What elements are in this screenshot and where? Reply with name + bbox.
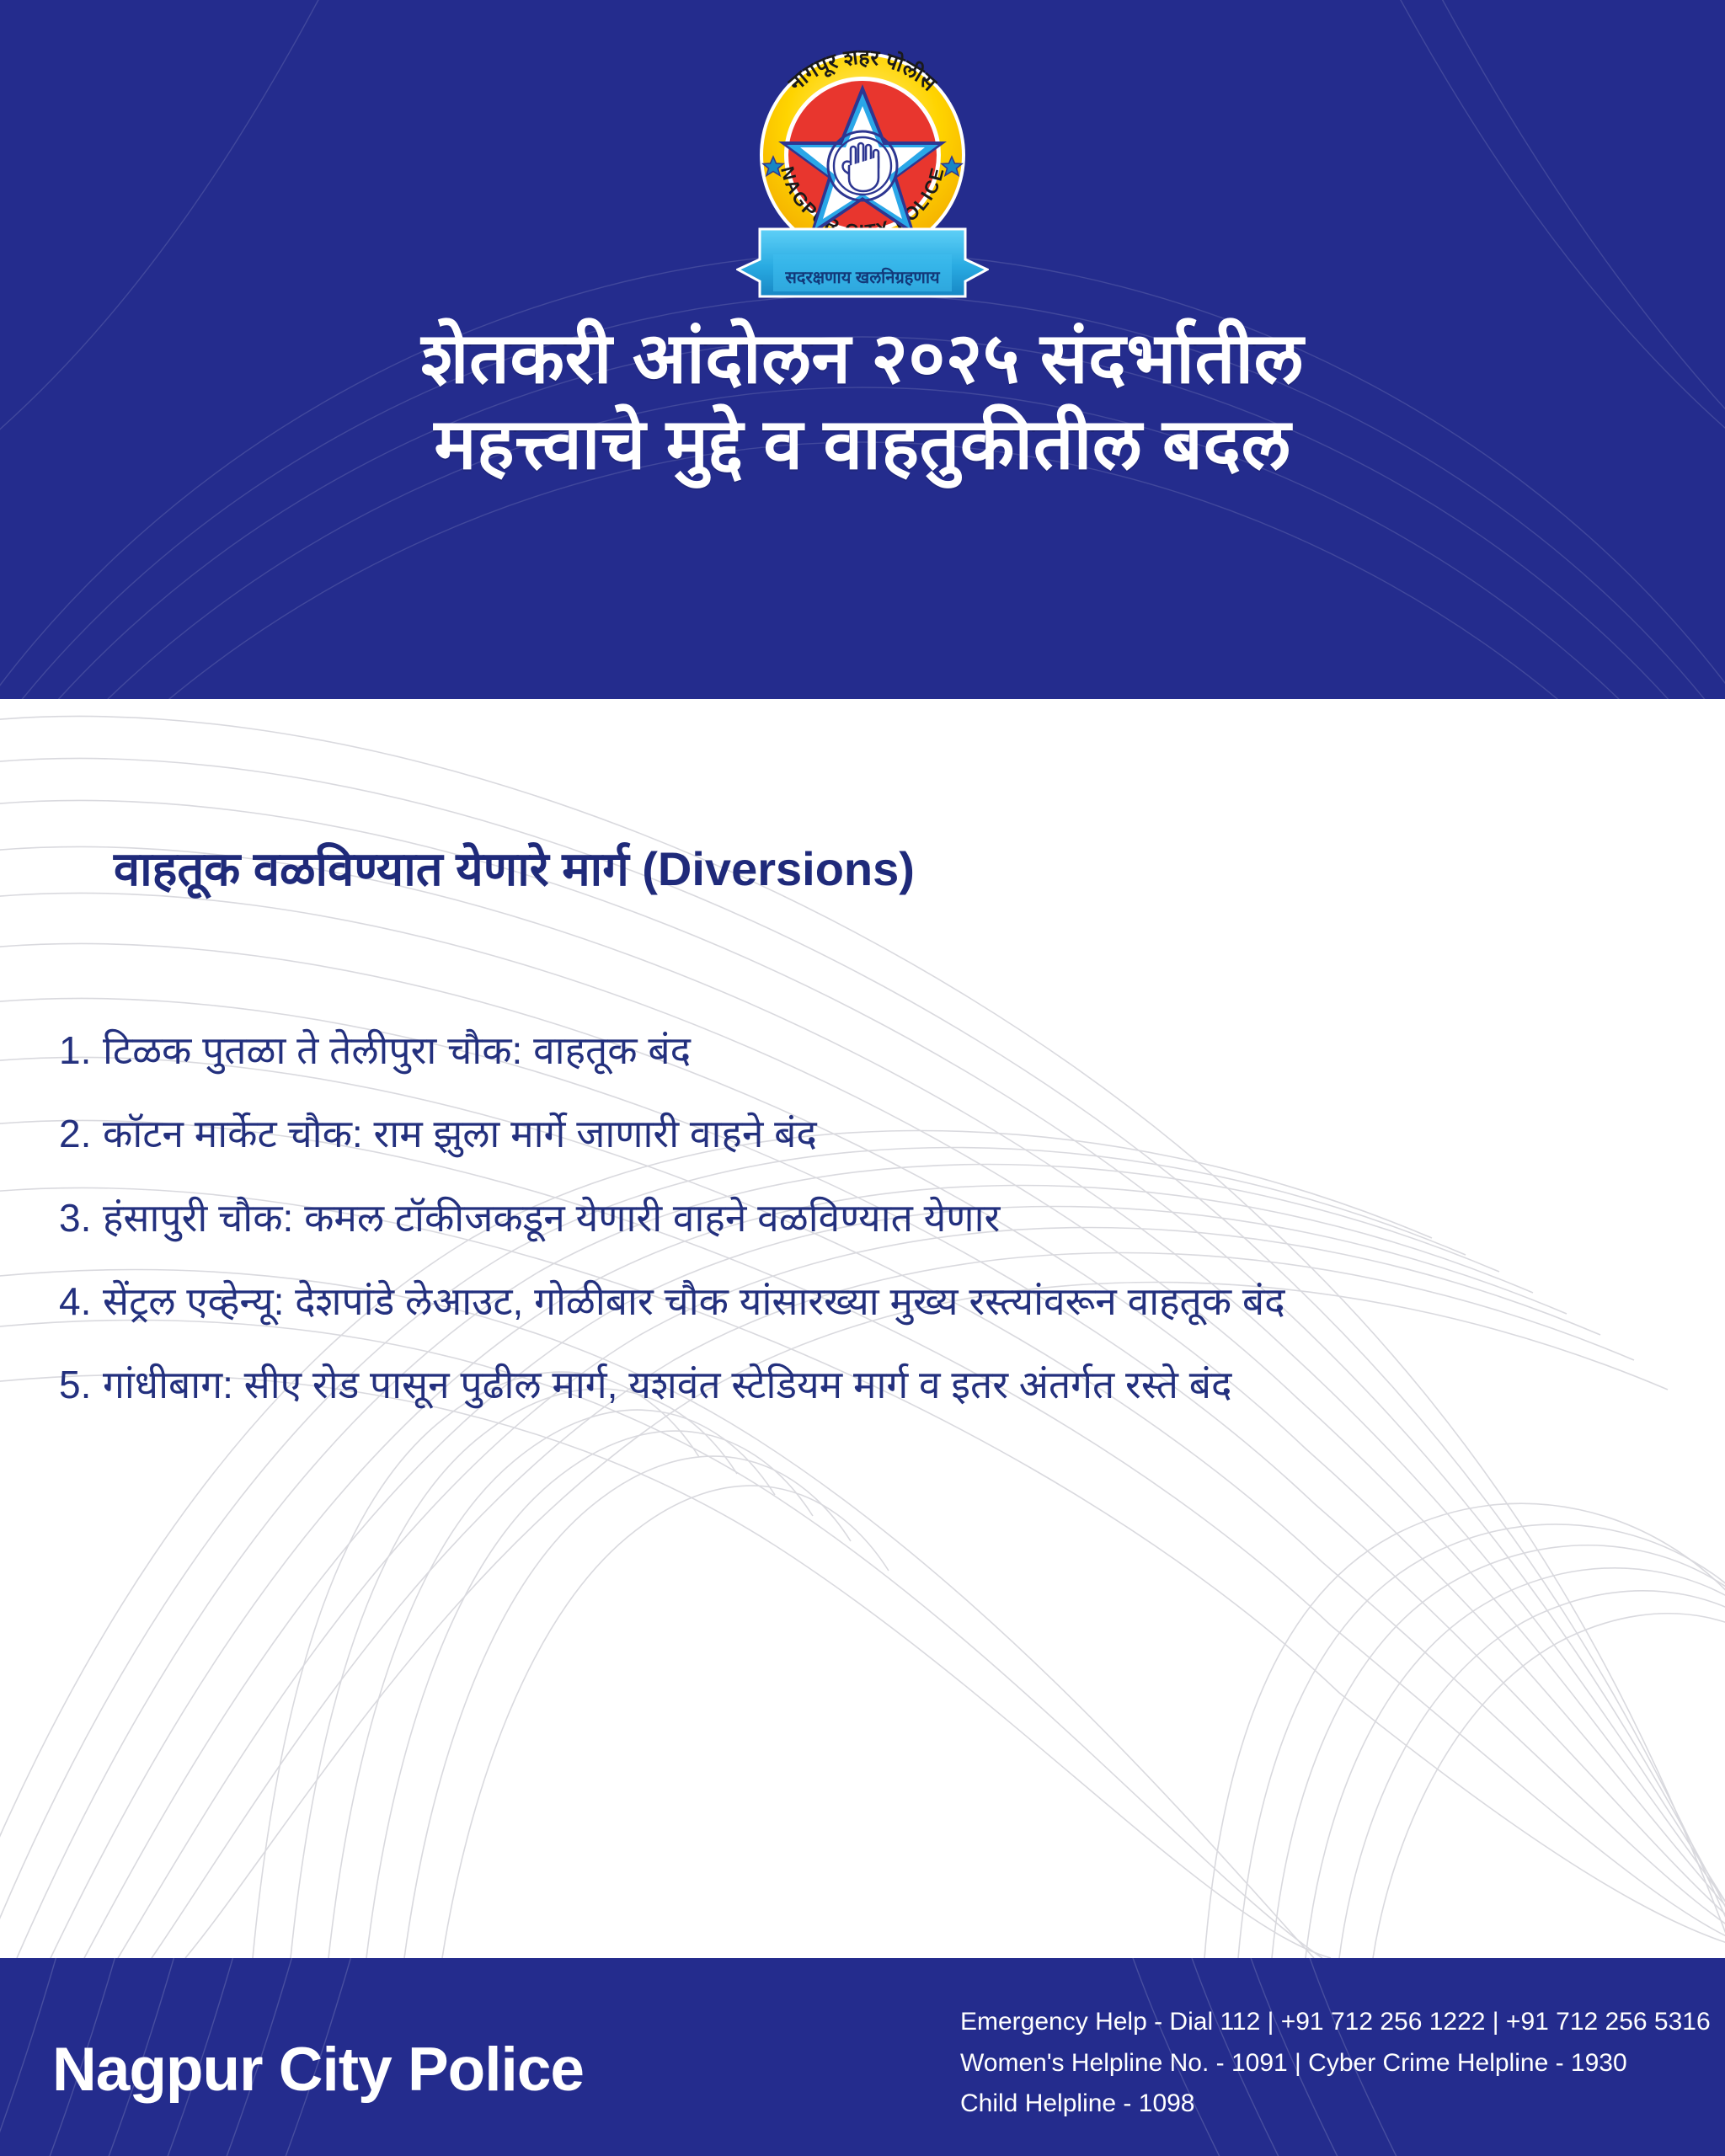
poster-body: वाहतूक वळविण्यात येणारे मार्ग (Diversion… [0,699,1725,1958]
title-line-2: महत्त्वाचे मुद्दे व वाहतुकीतील बदल [79,401,1646,487]
list-item-text: हंसापुरी चौक: कमल टॉकीजकडून येणारी वाहने… [103,1191,1676,1246]
list-item: 2. कॉटन मार्केट चौक: राम झुला मार्गे जाण… [59,1107,1676,1161]
footer-brand-label: Nagpur City Police [52,2039,584,2100]
helpline-women-cyber: Women's Helpline No. - 1091 | Cyber Crim… [960,2043,1711,2084]
poster-title: शेतकरी आंदोलन २०२५ संदर्भातील महत्त्वाचे… [79,315,1646,488]
footer-helplines: Emergency Help - Dial 112 | +91 712 256 … [960,2002,1711,2125]
list-item-number: 1. [59,1023,103,1078]
svg-text:सदरक्षणाय खलनिग्रहणाय: सदरक्षणाय खलनिग्रहणाय [784,267,941,287]
poster-root: नागपूर शहर पोलीस NAGPUR CITY POLICE [0,0,1725,2156]
diversions-list: 1. टिळक पुतळा ते तेलीपुरा चौक: वाहतूक बं… [59,1023,1676,1442]
list-item-number: 4. [59,1274,103,1329]
poster-footer: Nagpur City Police Emergency Help - Dial… [0,1958,1725,2156]
list-item-text: कॉटन मार्केट चौक: राम झुला मार्गे जाणारी… [103,1107,1676,1161]
list-item-number: 5. [59,1358,103,1412]
police-emblem-icon: नागपूर शहर पोलीस NAGPUR CITY POLICE [736,29,989,307]
list-item: 1. टिळक पुतळा ते तेलीपुरा चौक: वाहतूक बं… [59,1023,1676,1078]
helpline-child: Child Helpline - 1098 [960,2084,1711,2125]
list-item-text: टिळक पुतळा ते तेलीपुरा चौक: वाहतूक बंद [103,1023,1676,1078]
helpline-emergency: Emergency Help - Dial 112 | +91 712 256 … [960,2002,1711,2043]
list-item: 3. हंसापुरी चौक: कमल टॉकीजकडून येणारी वा… [59,1191,1676,1246]
list-item-number: 3. [59,1191,103,1246]
title-line-1: शेतकरी आंदोलन २०२५ संदर्भातील [79,315,1646,401]
list-item: 4. सेंट्रल एव्हेन्यू: देशपांडे लेआउट, गो… [59,1274,1676,1329]
section-heading-diversions: वाहतूक वळविण्यात येणारे मार्ग (Diversion… [114,841,915,897]
list-item-text: गांधीबाग: सीए रोड पासून पुढील मार्ग, यशव… [103,1358,1676,1412]
nagpur-city-police-logo: नागपूर शहर पोलीस NAGPUR CITY POLICE [736,29,989,307]
list-item-number: 2. [59,1107,103,1161]
list-item: 5. गांधीबाग: सीए रोड पासून पुढील मार्ग, … [59,1358,1676,1412]
poster-header: नागपूर शहर पोलीस NAGPUR CITY POLICE [0,0,1725,699]
list-item-text: सेंट्रल एव्हेन्यू: देशपांडे लेआउट, गोळीब… [103,1274,1676,1329]
